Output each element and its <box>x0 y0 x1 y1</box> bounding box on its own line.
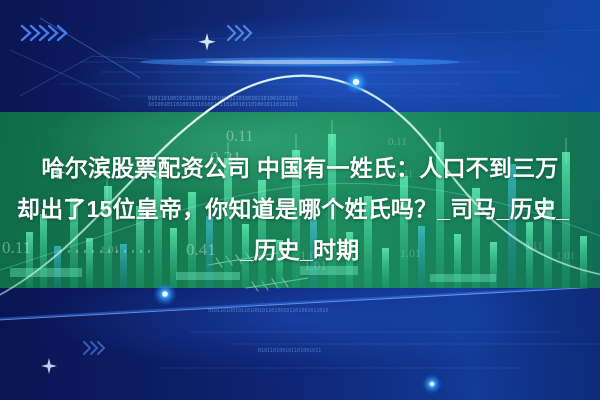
headline-line-2: 却出了15位皇帝，你知道是哪个姓氏吗？_司马_历史_ <box>0 189 600 230</box>
background-band-top <box>0 0 600 112</box>
background-band-bottom <box>0 288 600 400</box>
headline-line-3: _历史_时期 <box>0 230 600 271</box>
headline-text: 哈尔滨股票配资公司 中国有一姓氏：人口不到三万 却出了15位皇帝，你知道是哪个姓… <box>0 148 600 271</box>
headline-line-1: 哈尔滨股票配资公司 中国有一姓氏：人口不到三万 <box>0 148 600 189</box>
banner-image: 0101101001011010010110100101101001011010… <box>0 0 600 400</box>
